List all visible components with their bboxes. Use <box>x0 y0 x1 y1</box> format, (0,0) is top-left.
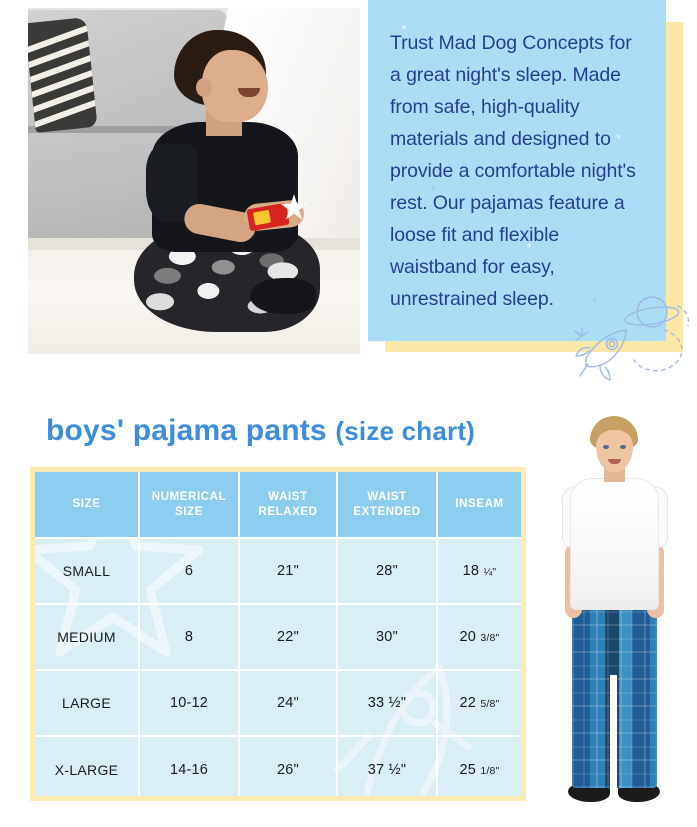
cell-waist-extended: 33 ½" <box>337 670 437 736</box>
cell-size: MEDIUM <box>35 604 139 670</box>
cell-waist-relaxed: 22" <box>239 604 337 670</box>
photo-pillow <box>28 17 98 133</box>
cell-numerical-size: 8 <box>139 604 239 670</box>
inseam-fraction: 1/8" <box>480 765 499 777</box>
cell-numerical-size: 10-12 <box>139 670 239 736</box>
photo-boy <box>110 26 320 346</box>
promo-text: Trust Mad Dog Concepts for a great night… <box>368 0 666 315</box>
size-chart-table-container: SIZE NUMERICAL SIZE WAIST RELAXED WAIST … <box>30 467 526 801</box>
cell-waist-extended: 37 ½" <box>337 736 437 801</box>
inseam-fraction: ¼" <box>483 566 496 578</box>
table-row: SMALL 6 21" 28" 18 ¼" <box>35 538 521 604</box>
inseam-whole: 20 <box>460 629 477 645</box>
column-header-size: SIZE <box>35 472 139 538</box>
cell-size: X-LARGE <box>35 736 139 801</box>
lifestyle-photo <box>28 8 360 354</box>
size-chart-table: SIZE NUMERICAL SIZE WAIST RELAXED WAIST … <box>35 472 521 801</box>
table-header-row: SIZE NUMERICAL SIZE WAIST RELAXED WAIST … <box>35 472 521 538</box>
model-left-eye <box>603 445 609 449</box>
photo-ear <box>196 78 212 97</box>
model-right-eye <box>620 445 626 449</box>
column-header-inseam: INSEAM <box>437 472 521 538</box>
inseam-whole: 25 <box>460 762 477 778</box>
column-header-waist-relaxed: WAIST RELAXED <box>239 472 337 538</box>
inseam-whole: 18 <box>463 563 480 579</box>
cell-waist-relaxed: 21" <box>239 538 337 604</box>
cell-waist-relaxed: 24" <box>239 670 337 736</box>
model-photo <box>540 410 688 822</box>
cell-size: LARGE <box>35 670 139 736</box>
model-pants-leg-gap <box>610 675 617 788</box>
cell-size: SMALL <box>35 538 139 604</box>
table-row: LARGE 10-12 24" 33 ½" 22 5/8" <box>35 670 521 736</box>
cell-waist-extended: 30" <box>337 604 437 670</box>
cell-waist-relaxed: 26" <box>239 736 337 801</box>
cell-inseam: 25 1/8" <box>437 736 521 801</box>
cell-inseam: 20 3/8" <box>437 604 521 670</box>
cell-inseam: 22 5/8" <box>437 670 521 736</box>
hero-section: Trust Mad Dog Concepts for a great night… <box>0 0 697 395</box>
inseam-whole: 22 <box>460 695 477 711</box>
page-title: boys' pajama pants (size chart) <box>46 414 475 448</box>
inseam-fraction: 3/8" <box>480 632 499 644</box>
promo-box: Trust Mad Dog Concepts for a great night… <box>368 0 666 341</box>
model-white-tshirt <box>570 478 659 610</box>
table-row: X-LARGE 14-16 26" 37 ½" 25 1/8" <box>35 736 521 801</box>
column-header-waist-extended: WAIST EXTENDED <box>337 472 437 538</box>
inseam-fraction: 5/8" <box>480 698 499 710</box>
table-row: MEDIUM 8 22" 30" 20 3/8" <box>35 604 521 670</box>
page-title-suffix: (size chart) <box>335 416 475 446</box>
cell-waist-extended: 28" <box>337 538 437 604</box>
cell-inseam: 18 ¼" <box>437 538 521 604</box>
photo-foot <box>250 278 316 314</box>
cell-numerical-size: 6 <box>139 538 239 604</box>
cell-numerical-size: 14-16 <box>139 736 239 801</box>
column-header-numerical-size: NUMERICAL SIZE <box>139 472 239 538</box>
page-title-main: boys' pajama pants <box>46 414 327 447</box>
model-face <box>596 430 633 472</box>
